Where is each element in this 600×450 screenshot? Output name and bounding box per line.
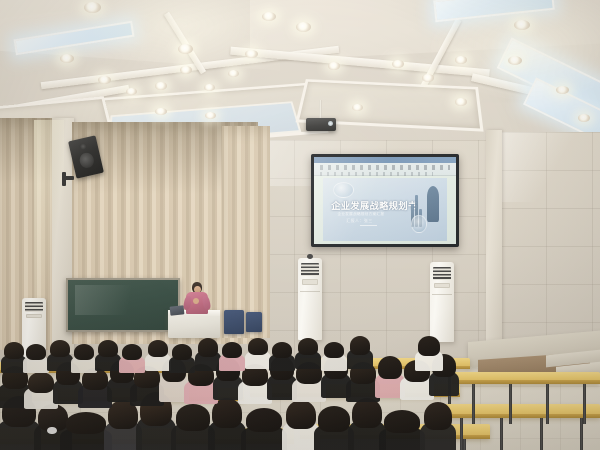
ac-body-seam (432, 294, 452, 295)
audience-member (66, 412, 106, 450)
laptop-on-podium[interactable] (170, 305, 185, 315)
downlight-10 (245, 50, 258, 58)
downlight-23 (155, 108, 167, 115)
audience-member (4, 342, 24, 372)
desk-leg (583, 384, 586, 424)
desk-leg (546, 384, 549, 424)
audience-member (324, 342, 344, 370)
audience-member-head (352, 398, 382, 428)
audience-member-head (4, 342, 24, 359)
slide-title: 企业发展战略规划书 (331, 202, 408, 211)
audience-member (384, 410, 420, 450)
downlight-19 (578, 114, 590, 122)
audience-member-head (66, 412, 106, 434)
ac-control-panel[interactable] (26, 314, 41, 318)
audience-member (298, 338, 318, 368)
audience-member-head (424, 402, 452, 430)
screen-surface: 企业发展战略规划书 企业发展战略规划方案汇报 汇报人：张三 (314, 157, 456, 244)
speaker-woofer-icon (79, 152, 96, 170)
audience-member (378, 356, 402, 396)
downlight-13 (514, 20, 530, 30)
slide-canvas: 企业发展战略规划书 企业发展战略规划方案汇报 汇报人：张三 (323, 178, 448, 241)
audience-member-head (384, 410, 420, 433)
audience-member (148, 340, 168, 370)
audience-member (222, 342, 242, 370)
projection-screen[interactable]: 企业发展战略规划书 企业发展战略规划方案汇报 汇报人：张三 (311, 154, 459, 247)
air-conditioner-right-of-stage (430, 262, 454, 342)
downlight-16 (422, 74, 434, 82)
downlight-1 (84, 2, 101, 13)
audience-member (108, 400, 138, 450)
audience-member-head (122, 344, 142, 360)
audience-member (424, 402, 452, 450)
ac-vent-grille-icon (301, 263, 318, 276)
downlight-8 (204, 84, 215, 91)
slide-subtitle: 企业发展战略规划方案汇报 (338, 212, 398, 217)
audience-member (272, 342, 292, 370)
ceiling-projector (306, 118, 336, 131)
audience-member-head (26, 344, 46, 360)
desk-leg (500, 418, 503, 450)
air-conditioner-left-of-stage (298, 258, 322, 340)
downlight-12 (262, 12, 276, 21)
audience-member-hair-tie (47, 427, 57, 434)
audience-member (212, 398, 242, 450)
audience-member (50, 340, 70, 370)
ac-control-panel[interactable] (434, 283, 449, 289)
speaker-tweeter-icon (79, 143, 87, 150)
ac-control-panel[interactable] (302, 279, 317, 285)
downlight-15 (455, 56, 467, 64)
ac-top-sensor-icon (307, 254, 313, 259)
downlight-22 (328, 62, 340, 70)
downlight-6 (126, 88, 137, 95)
audience-member-head (350, 336, 370, 355)
downlight-7 (180, 66, 192, 74)
curtain-highlight-left (34, 120, 64, 310)
downlight-5 (155, 82, 167, 90)
audience-member (172, 344, 192, 372)
audience-member (352, 398, 382, 450)
desk-leg (472, 384, 475, 424)
projector-mount-pole (319, 100, 322, 120)
audience-member-head (28, 372, 54, 393)
presenter-hands (193, 298, 199, 304)
audience-member-head (418, 336, 440, 356)
slide-illustration (410, 184, 440, 235)
downlight-24 (205, 112, 216, 119)
downlight-11 (296, 22, 311, 32)
audience-member-head (298, 338, 318, 355)
downlight-2 (178, 44, 193, 54)
slide-globe-small-icon (411, 215, 427, 233)
audience-member-head (324, 342, 344, 358)
downlight-18 (556, 86, 569, 94)
presentation-titlebar (314, 157, 456, 163)
downlight-17 (455, 98, 467, 106)
desk-row (440, 404, 600, 418)
desk-front-edge (440, 414, 600, 418)
audience-member-head (286, 400, 316, 429)
desk-leg (509, 384, 512, 424)
speaker-bracket-post (62, 172, 66, 186)
audience-member (82, 368, 108, 406)
audience-member (74, 344, 94, 372)
slide-subtitle-secondary: 汇报人：张三 (346, 218, 391, 224)
ac-vent-grille-icon (433, 267, 450, 280)
chalkboard-smudge (75, 285, 152, 315)
audience-member (176, 404, 210, 450)
downlight-21 (392, 60, 404, 68)
audience-member (418, 336, 440, 370)
audience-member-head (318, 406, 350, 432)
tile-sheen-right (500, 132, 600, 202)
chair-beside-podium-1[interactable] (224, 310, 244, 334)
projector-lens-icon (328, 121, 333, 126)
audience-member-head (198, 338, 218, 357)
audience-member-head (176, 404, 210, 431)
downlight-4 (98, 76, 111, 84)
audience-member-head (222, 342, 242, 358)
audience-member (98, 340, 118, 370)
audience-member-head (246, 408, 282, 432)
audience-member (122, 344, 142, 372)
audience-member-head (172, 344, 192, 360)
slide-globe-graphic-icon (333, 182, 354, 198)
downlight-20 (352, 104, 363, 111)
audience-member-head (272, 342, 292, 358)
audience-member (318, 406, 350, 450)
downlight-14 (508, 56, 522, 65)
presentation-toolbar-row-2 (320, 172, 434, 176)
audience-member (350, 336, 370, 368)
presentation-ribbon (314, 157, 456, 176)
pillar-right (486, 130, 502, 370)
audience-member-head (378, 356, 402, 379)
audience-member (28, 372, 54, 408)
chair-beside-podium-2[interactable] (246, 312, 262, 332)
audience-member (286, 400, 316, 450)
audience-member (198, 338, 218, 370)
audience-member (26, 344, 46, 372)
desk-row (452, 372, 600, 384)
slide-businessperson-icon (427, 186, 440, 222)
slide-divider-rule (360, 225, 377, 226)
curtain-right-of-board (222, 126, 270, 338)
audience-member (242, 364, 268, 402)
ac-body-seam (300, 291, 320, 292)
audience-member-head (248, 338, 268, 355)
downlight-9 (228, 70, 239, 77)
ac-vent-grille-icon (25, 302, 42, 312)
audience-member-head (148, 340, 168, 357)
presentation-toolbar-row-1 (320, 165, 451, 170)
desk-leg (540, 418, 543, 450)
audience-member-head (50, 340, 70, 357)
audience-member-head (74, 344, 94, 360)
desk-leg (460, 418, 463, 450)
chalkboard (66, 278, 180, 332)
audience-member (248, 338, 268, 368)
audience-member (246, 408, 282, 450)
lecture-hall-photo: 企业发展战略规划书 企业发展战略规划方案汇报 汇报人：张三 (0, 0, 600, 450)
audience-member-head (98, 340, 118, 357)
downlight-3 (60, 54, 74, 63)
